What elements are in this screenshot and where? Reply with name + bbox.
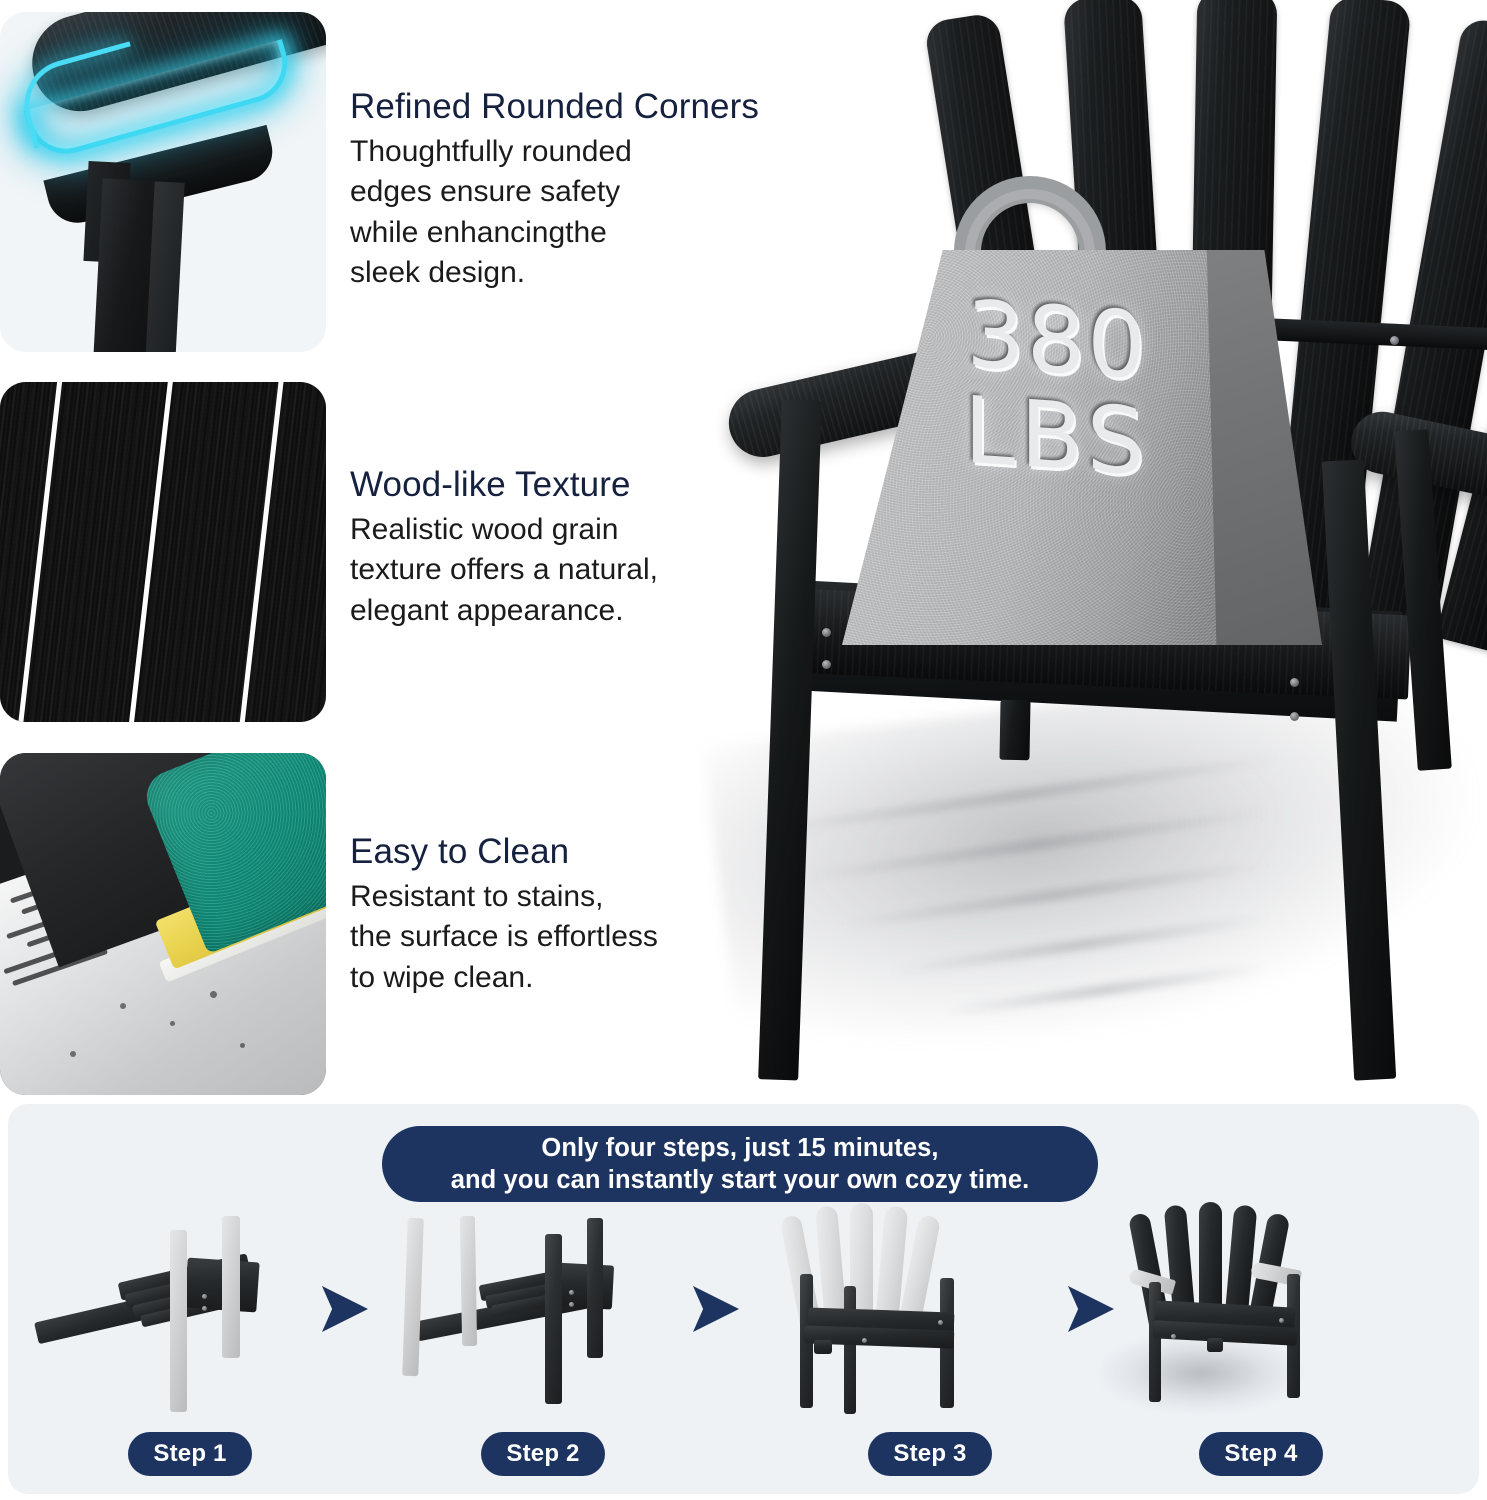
assembly-step-3-illustration xyxy=(780,1208,1080,1420)
weight-capacity-text: 380 LBS xyxy=(842,281,1272,497)
center-support xyxy=(999,700,1030,761)
feature-description-line: elegant appearance. xyxy=(350,591,658,631)
thumbnail-easy-to-clean xyxy=(0,753,326,1095)
step-badge-2: Step 2 xyxy=(481,1432,605,1476)
feature-description-line: to wipe clean. xyxy=(350,958,658,998)
feature-row-refined-rounded-corners: Refined Rounded Corners Thoughtfully rou… xyxy=(0,12,720,352)
assembly-step-1-illustration xyxy=(40,1208,340,1420)
feature-description-line: texture offers a natural, xyxy=(350,550,658,590)
assembly-steps-panel: Only four steps, just 15 minutes, and yo… xyxy=(8,1104,1479,1494)
hero-product-image: 380 LBS xyxy=(690,0,1487,1098)
feature-text: Easy to Clean Resistant to stains, the s… xyxy=(326,753,658,998)
assembly-step-1: Step 1 xyxy=(40,1208,340,1494)
feature-title: Easy to Clean xyxy=(350,831,658,872)
assembly-steps-row: Step 1 Step 2 xyxy=(8,1208,1479,1494)
feature-description-line: the surface is effortless xyxy=(350,917,658,957)
step-badge-4: Step 4 xyxy=(1199,1432,1323,1476)
assembly-step-4: Step 4 xyxy=(1111,1208,1411,1494)
thumbnail-rounded-corner xyxy=(0,12,326,352)
feature-row-easy-to-clean: Easy to Clean Resistant to stains, the s… xyxy=(0,753,720,1095)
assembly-step-2: Step 2 xyxy=(393,1208,693,1494)
assembly-step-3: Step 3 xyxy=(780,1208,1080,1494)
thumbnail-wood-texture xyxy=(0,382,326,722)
step-badge-3: Step 3 xyxy=(868,1432,992,1476)
feature-description: Resistant to stains, the surface is effo… xyxy=(350,877,658,998)
feature-title: Wood-like Texture xyxy=(350,464,658,505)
feature-row-wood-like-texture: Wood-like Texture Realistic wood grain t… xyxy=(0,382,720,722)
chevron-right-arrow-icon xyxy=(693,1286,739,1332)
feature-description-line: Resistant to stains, xyxy=(350,877,658,917)
assembly-banner-line: and you can instantly start your own coz… xyxy=(451,1164,1030,1196)
assembly-step-2-illustration xyxy=(393,1208,693,1420)
assembly-banner-line: Only four steps, just 15 minutes, xyxy=(541,1132,938,1164)
wood-slat-surface xyxy=(0,382,326,722)
feature-description: Realistic wood grain texture offers a na… xyxy=(350,510,658,631)
features-section: Refined Rounded Corners Thoughtfully rou… xyxy=(0,0,1487,1098)
assembly-banner: Only four steps, just 15 minutes, and yo… xyxy=(382,1126,1098,1202)
weight-capacity-block: 380 LBS xyxy=(842,178,1322,648)
step-badge-1: Step 1 xyxy=(128,1432,252,1476)
feature-description-line: Realistic wood grain xyxy=(350,510,658,550)
feature-list: Refined Rounded Corners Thoughtfully rou… xyxy=(0,0,720,1098)
assembly-step-4-illustration xyxy=(1111,1208,1411,1420)
feature-text: Wood-like Texture Realistic wood grain t… xyxy=(326,382,658,631)
